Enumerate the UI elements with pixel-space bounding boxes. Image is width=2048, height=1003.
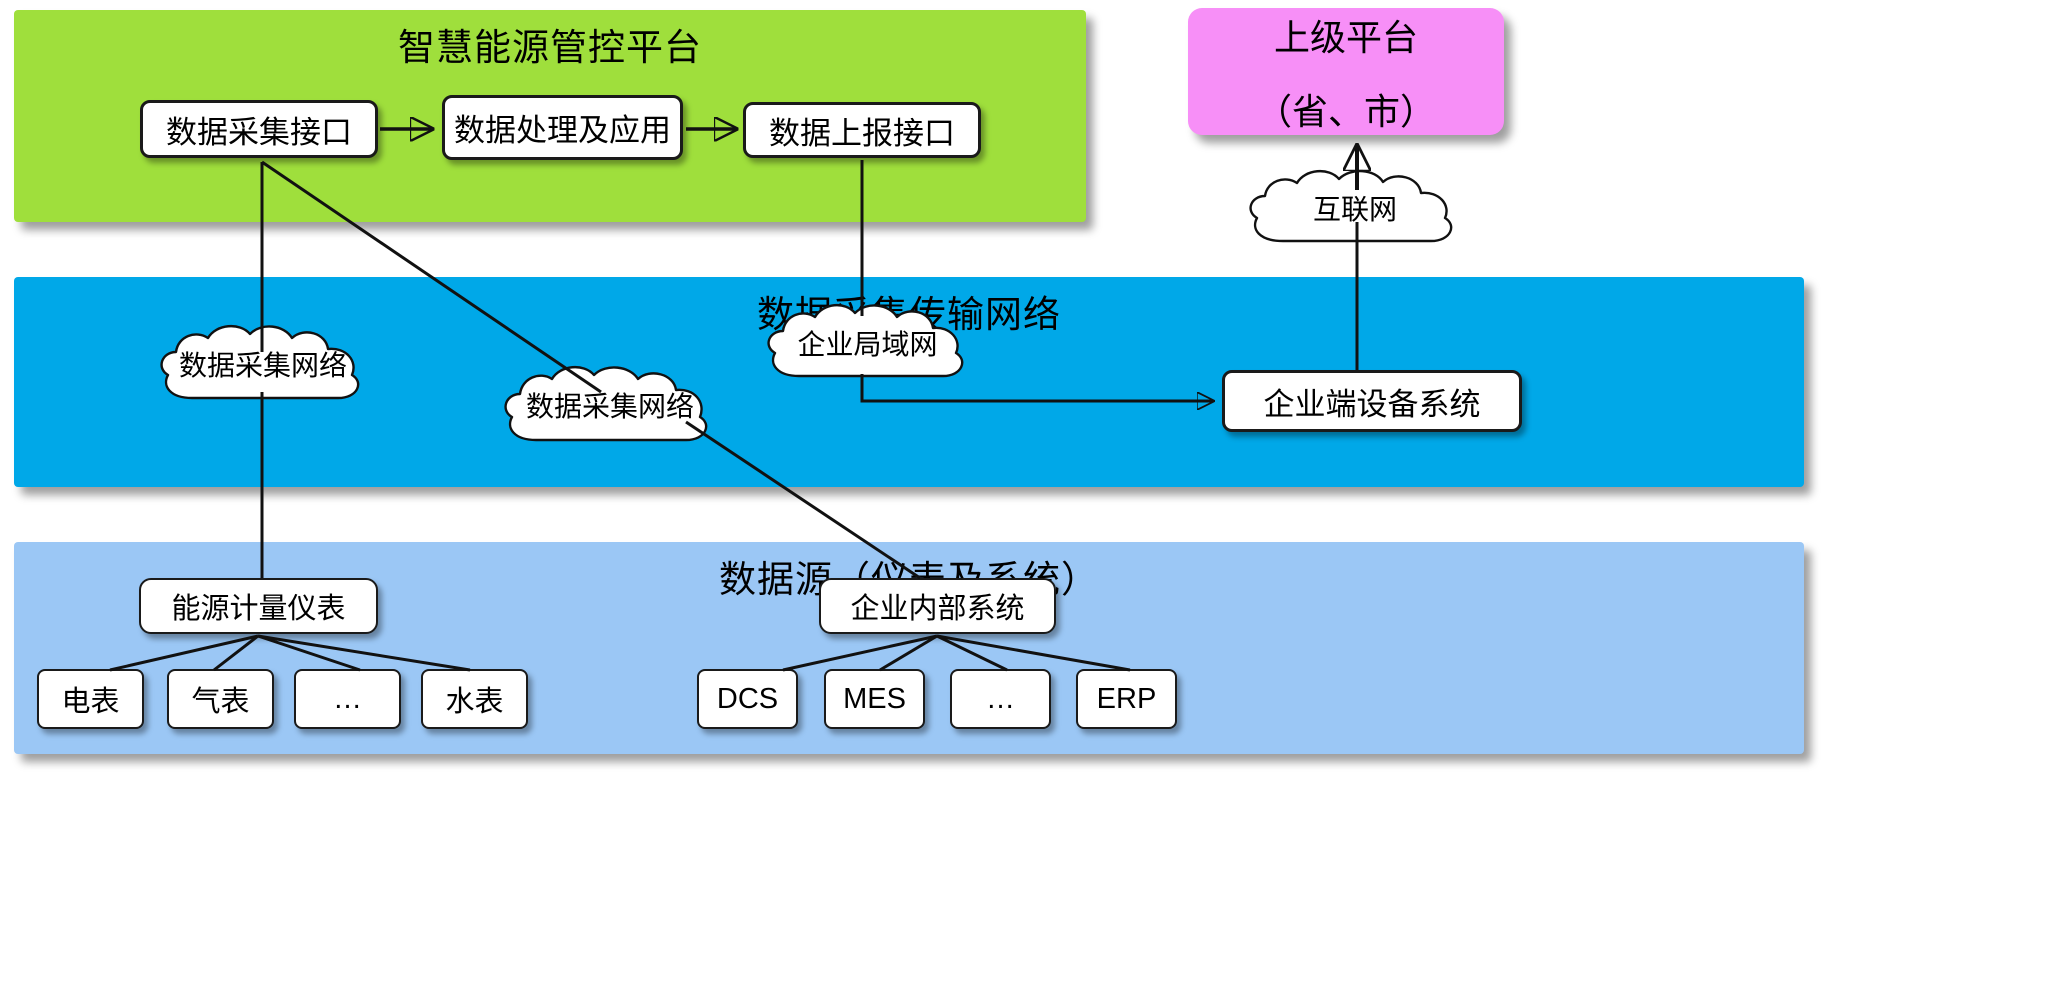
node-enterprise-internal-system[interactable]: 企业内部系统 (819, 578, 1056, 634)
upper-platform-box[interactable]: 上级平台 （省、市） (1188, 8, 1504, 135)
node-label: 数据上报接口 (769, 108, 955, 153)
cloud-data-collection-network-center[interactable]: 数据采集网络 (490, 358, 730, 452)
node-electric-meter[interactable]: 电表 (37, 669, 144, 729)
node-mes[interactable]: MES (824, 669, 925, 729)
node-meter-ellipsis[interactable]: … (294, 669, 401, 729)
node-data-collection-interface[interactable]: 数据采集接口 (140, 100, 378, 158)
node-label: 水表 (445, 678, 503, 720)
node-label: 数据处理及应用 (454, 105, 671, 150)
node-water-meter[interactable]: 水表 (421, 669, 528, 729)
node-label: 能源计量仪表 (171, 585, 345, 627)
node-label: 企业端设备系统 (1264, 379, 1481, 424)
upper-platform-line1: 上级平台 (1274, 9, 1418, 61)
node-energy-metering-instrument[interactable]: 能源计量仪表 (139, 578, 378, 634)
node-enterprise-device-system[interactable]: 企业端设备系统 (1222, 370, 1522, 432)
cloud-internet[interactable]: 互联网 (1235, 163, 1475, 253)
node-label: MES (843, 683, 906, 716)
node-erp[interactable]: ERP (1076, 669, 1177, 729)
node-label: ERP (1097, 683, 1157, 716)
diagram-canvas: 智慧能源管控平台 数据采集传输网络 数据源（仪表及系统） 上级平台 （省、市） … (0, 0, 2048, 1003)
node-label: 数据采集接口 (166, 107, 352, 152)
node-system-ellipsis[interactable]: … (950, 669, 1051, 729)
cloud-data-collection-network-left[interactable]: 数据采集网络 (148, 318, 378, 410)
node-data-processing-application[interactable]: 数据处理及应用 (442, 95, 683, 160)
band-platform-title: 智慧能源管控平台 (14, 28, 1086, 69)
node-label: 电表 (61, 678, 119, 720)
node-label: DCS (717, 683, 778, 716)
node-data-reporting-interface[interactable]: 数据上报接口 (743, 102, 981, 158)
node-label: … (986, 683, 1015, 716)
node-label: 气表 (191, 678, 249, 720)
node-dcs[interactable]: DCS (697, 669, 798, 729)
node-label: 企业内部系统 (850, 585, 1024, 627)
node-label: … (333, 683, 362, 716)
node-gas-meter[interactable]: 气表 (167, 669, 274, 729)
cloud-enterprise-lan[interactable]: 企业局域网 (755, 298, 980, 388)
upper-platform-line2: （省、市） (1256, 83, 1436, 135)
